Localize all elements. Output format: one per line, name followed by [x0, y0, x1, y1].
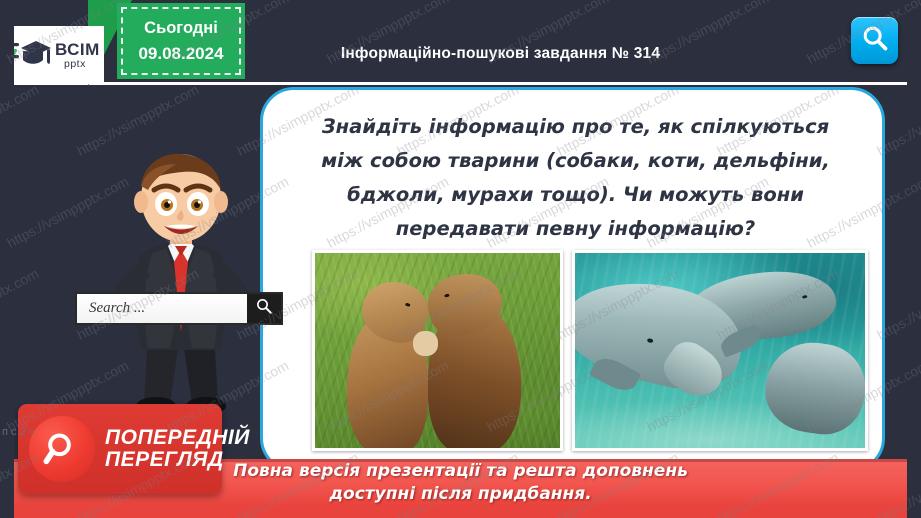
date-badge-label: Сьогодні — [144, 19, 218, 37]
question-text: Знайдіть інформацію про те, як спілкують… — [289, 110, 862, 246]
prairie-dog-left-eye — [405, 302, 410, 307]
search-icon — [861, 24, 889, 57]
question-line-1: Знайдіть інформацію про те, як спілкують… — [289, 110, 862, 144]
preview-badge-text: ПОПЕРЕДНІЙ ПЕРЕГЛЯД — [105, 427, 250, 471]
logo-sub-text: pptx — [64, 59, 100, 70]
preview-badge[interactable]: ПОПЕРЕДНІЙ ПЕРЕГЛЯД — [18, 404, 222, 494]
search-input-wrapper[interactable]: Search ... — [75, 292, 283, 325]
prairie-dog-right-eye — [444, 294, 450, 299]
header-divider — [14, 82, 907, 85]
dolphin-front-eye — [647, 338, 654, 344]
search-icon — [255, 297, 273, 320]
purchase-notice-line-1: Повна версія презентації та решта доповн… — [233, 460, 688, 483]
banner-base — [14, 507, 907, 518]
date-badge-value: 09.08.2024 — [138, 45, 223, 64]
preview-badge-line-1: ПОПЕРЕДНІЙ — [105, 427, 250, 449]
edge-note: п с 2 « — [2, 424, 52, 440]
preview-badge-line-2: ПЕРЕГЛЯД — [105, 449, 250, 471]
left-edge-strip — [0, 0, 14, 518]
slide-root: Знайдіть інформацію про те, як спілкують… — [0, 0, 921, 518]
logo-main-text: ВСІМ — [55, 41, 100, 58]
search-input[interactable]: Search ... — [77, 300, 247, 317]
watermark-text: https://vsimppptx.com — [74, 81, 201, 159]
top-search-button[interactable] — [851, 17, 898, 64]
question-line-3: бджоли, мурахи тощо). Чи можуть вони — [289, 178, 862, 212]
search-submit-button[interactable] — [247, 294, 281, 323]
dolphin-middle-eye — [802, 294, 807, 298]
today-date-badge: Сьогодні 09.08.2024 — [117, 3, 245, 79]
question-line-2: між собою тварини (собаки, коти, дельфін… — [289, 144, 862, 178]
prairie-dogs-photo — [312, 250, 563, 451]
cartoon-businessman — [96, 152, 266, 420]
dolphins-photo — [572, 250, 868, 451]
right-edge-strip — [907, 0, 921, 518]
brand-logo[interactable]: ВСІМ pptx — [0, 26, 104, 84]
prairie-dog-paw — [413, 331, 438, 356]
purchase-notice-line-2: доступні після придбання. — [233, 483, 688, 506]
question-line-4: передавати певну інформацію? — [289, 212, 862, 246]
